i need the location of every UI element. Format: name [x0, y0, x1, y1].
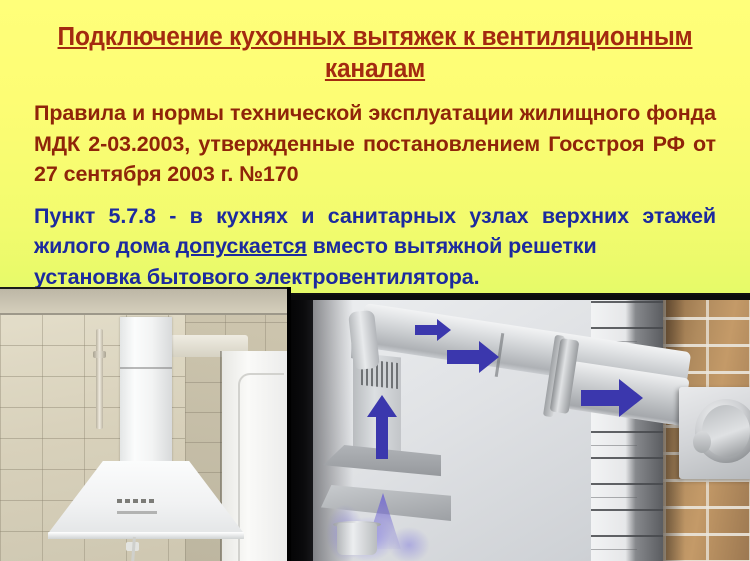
- wall-vent-damper: [693, 431, 711, 453]
- cooking-pot: [337, 523, 377, 555]
- presentation-slide: Подключение кухонных вытяжек к вентиляци…: [0, 0, 750, 561]
- range-hood-control-buttons: [117, 499, 154, 503]
- photo-duct-diagram: [291, 293, 750, 561]
- range-hood-chimney: [120, 317, 172, 465]
- wall-vent-inner-ring: [702, 405, 750, 457]
- arrow-right-icon-3: [581, 379, 643, 417]
- ceiling: [0, 289, 287, 315]
- range-hood-chimney-seam: [120, 367, 172, 369]
- control-button: [149, 499, 154, 503]
- image-top-border: [291, 295, 750, 300]
- paragraph-regulations: Правила и нормы технической эксплуатации…: [18, 98, 732, 190]
- control-button: [141, 499, 146, 503]
- image-left-border: [291, 295, 313, 561]
- slide-text-area: Подключение кухонных вытяжек к вентиляци…: [0, 0, 750, 292]
- slide-title: Подключение кухонных вытяжек к вентиляци…: [32, 0, 717, 85]
- arrow-up-icon: [367, 395, 397, 459]
- clause-emphasis-allowed: допускается: [176, 234, 307, 258]
- photo-strip: [0, 287, 750, 561]
- paragraph-clause: Пункт 5.7.8 - в кухнях и санитарных узла…: [18, 201, 732, 292]
- control-button: [117, 499, 122, 503]
- clause-text-part2: вместо вытяжной решетки: [307, 234, 597, 258]
- arrow-right-icon-2: [447, 341, 499, 373]
- wall-pipe-collar: [93, 351, 106, 358]
- control-button: [125, 499, 130, 503]
- wall-pipe: [96, 329, 103, 429]
- range-hood-brand-label: [117, 511, 157, 514]
- arrow-right-icon-1: [415, 319, 451, 341]
- range-hood-lip: [48, 532, 244, 539]
- cabinet-door-panel: [238, 373, 284, 561]
- control-button: [133, 499, 138, 503]
- photo-kitchen-hood: [0, 287, 287, 561]
